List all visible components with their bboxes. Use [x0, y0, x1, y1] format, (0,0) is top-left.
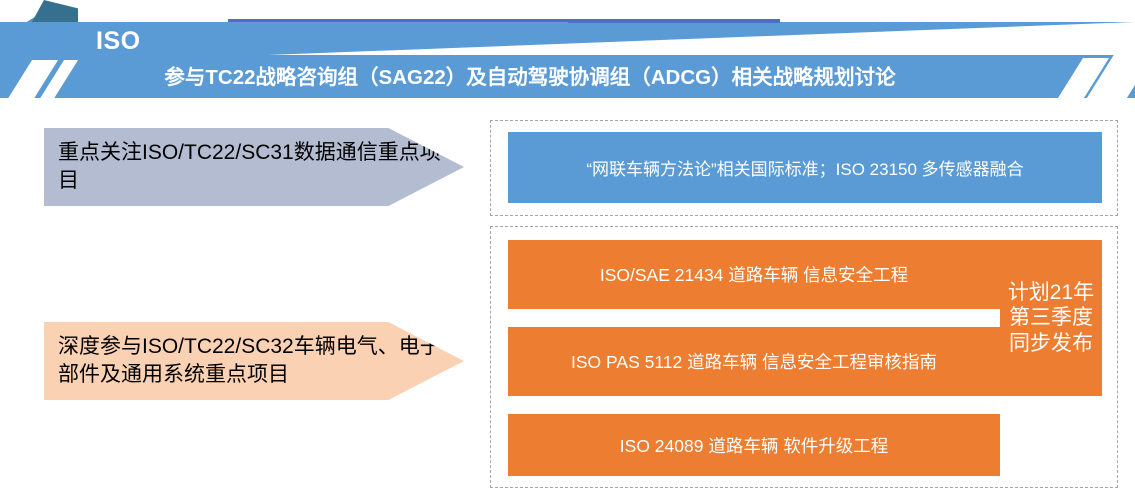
header-rule-light: [228, 22, 568, 24]
arrow-callout-sc32-label: 深度参与ISO/TC22/SC32车辆电气、电子部件及通用系统重点项目: [58, 333, 450, 388]
arrow-callout-sc31-label: 重点关注ISO/TC22/SC31数据通信重点项目: [58, 139, 450, 194]
card-iso-sae-21434-label: ISO/SAE 21434 道路车辆 信息安全工程: [600, 262, 908, 287]
card-iso-pas-5112-label: ISO PAS 5112 道路车辆 信息安全工程审核指南: [571, 349, 937, 374]
card-iso-24089-label: ISO 24089 道路车辆 软件升级工程: [620, 433, 888, 458]
header-logo-label: ISO: [96, 27, 141, 56]
card-iso-pas-5112: ISO PAS 5112 道路车辆 信息安全工程审核指南: [508, 327, 1000, 396]
card-iso-sae-21434: ISO/SAE 21434 道路车辆 信息安全工程: [508, 240, 1000, 309]
side-note-release-plan-label: 计划21年第三季度同步发布: [1006, 280, 1096, 357]
page-header: ISO 参与TC22战略咨询组（SAG22）及自动驾驶协调组（ADCG）相关战略…: [0, 0, 1135, 108]
side-note-release-plan: 计划21年第三季度同步发布: [1000, 240, 1102, 396]
page-title: 参与TC22战略咨询组（SAG22）及自动驾驶协调组（ADCG）相关战略规划讨论: [0, 60, 1060, 90]
header-flag-icon: [32, 0, 78, 22]
card-networked-vehicle-methodology: “网联车辆方法论”相关国际标准；ISO 23150 多传感器融合: [508, 132, 1102, 203]
arrow-callout-sc31: 重点关注ISO/TC22/SC31数据通信重点项目: [44, 128, 464, 206]
card-iso-24089: ISO 24089 道路车辆 软件升级工程: [508, 414, 1000, 476]
arrow-callout-sc32: 深度参与ISO/TC22/SC32车辆电气、电子部件及通用系统重点项目: [44, 322, 464, 400]
card-networked-vehicle-methodology-label: “网联车辆方法论”相关国际标准；ISO 23150 多传感器融合: [586, 155, 1023, 180]
